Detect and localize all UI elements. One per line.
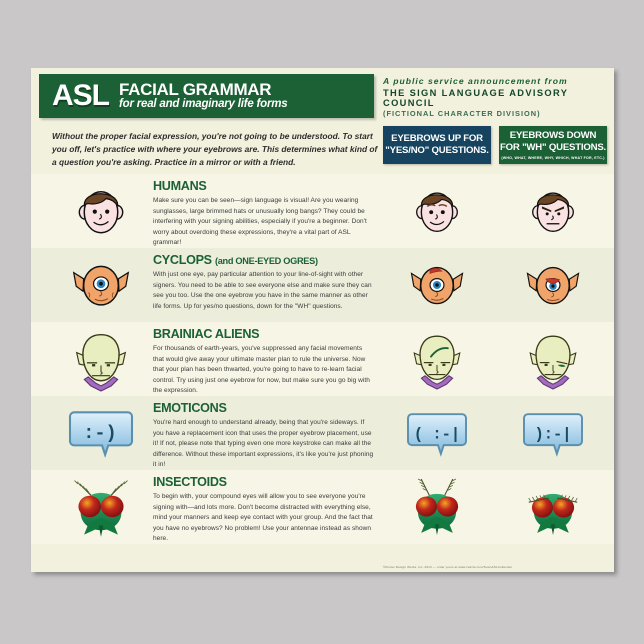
column-header-label: EYEBROWS DOWN FOR "WH" QUESTIONS. [499,130,607,153]
thumbnail-insectoid [53,474,149,540]
poster-title: FACIAL GRAMMAR [119,81,288,98]
row-emoticons: :-) EMOTICONS You're hard enough to unde… [31,396,614,470]
council-name: THE SIGN LANGUAGE ADVISORY COUNCIL [383,88,607,108]
emoticon-glyph: ):-| [534,425,571,443]
emoticon-glyph: :-) [83,423,116,444]
art-cyclops-eyebrows-up [382,248,492,322]
alien-face-neutral-icon [69,327,133,391]
column-header-note: (WHO, WHAT, WHERE, WHY, WHICH, WHAT FOR,… [501,156,604,160]
art-emoticon-eyebrows-down: ):-| [498,396,608,470]
title-banner: ASL FACIAL GRAMMAR for real and imaginar… [39,74,374,118]
column-header-eyebrows-down: EYEBROWS DOWN FOR "WH" QUESTIONS. (WHO, … [499,126,607,164]
art-emoticon-eyebrows-up: ( :-| [382,396,492,470]
alien-face-eyebrows-down-icon [523,329,583,389]
human-face-eyebrows-down-icon [524,182,582,240]
row-body-insectoid: To begin with, your compound eyes will a… [153,492,375,545]
poster-header: ASL FACIAL GRAMMAR for real and imaginar… [31,68,614,120]
row-body-humans: Make sure you can be seen—sign language … [153,196,375,249]
emoticon-bubble-eyebrows-up-icon: ( :-| [408,410,466,457]
psa-line: A public service announcement from [383,76,607,86]
thumbnail-humans [53,178,149,244]
credit-line: ©Poster Design Works, Inc. 2013 — order … [383,565,613,569]
council-division: (FICTIONAL CHARACTER DIVISION) [383,109,607,118]
row-insectoids: INSECTOIDS To begin with, your compound … [31,470,614,544]
copy-emoticon: EMOTICONS You're hard enough to understa… [153,401,375,471]
intro-text: Without the proper facial expression, yo… [52,130,382,168]
art-insectoid-eyebrows-down [498,470,608,544]
emoticon-bubble-neutral-icon: :-) [70,408,132,458]
row-body-emoticon: You're hard enough to understand already… [153,418,375,471]
row-title-humans: HUMANS [153,179,375,193]
art-insectoid-eyebrows-up [382,470,492,544]
row-brainiac-aliens: BRAINIAC ALIENS For thousands of earth-y… [31,322,614,396]
emoticon-bubble-eyebrows-down-icon: ):-| [524,410,582,457]
row-body-alien: For thousands of earth-years, you've sup… [153,344,375,397]
row-title-alien: BRAINIAC ALIENS [153,327,375,341]
title-block: FACIAL GRAMMAR for real and imaginary li… [119,81,288,110]
row-title-cyclops: CYCLOPS (and ONE-EYED OGRES) [153,253,375,267]
brand-asl: ASL [52,81,109,111]
emoticon-glyph: ( :-| [414,425,460,443]
thumbnail-emoticon: :-) [53,400,149,466]
copy-insectoid: INSECTOIDS To begin with, your compound … [153,475,375,545]
column-header-label: EYEBROWS UP FOR "YES/NO" QUESTIONS. [383,133,491,156]
poster: ASL FACIAL GRAMMAR for real and imaginar… [31,68,614,572]
art-alien-eyebrows-up [382,322,492,396]
row-cyclops: CYCLOPS (and ONE-EYED OGRES) With just o… [31,248,614,322]
human-face-neutral-icon [70,180,132,242]
cyclops-face-neutral-icon [70,254,132,316]
insectoid-antennae-up-icon [405,478,469,536]
thumbnail-cyclops [53,252,149,318]
copy-alien: BRAINIAC ALIENS For thousands of earth-y… [153,327,375,397]
art-humans-eyebrows-down [498,174,608,248]
psa-block: A public service announcement from THE S… [383,76,607,118]
row-title-emoticon: EMOTICONS [153,401,375,415]
alien-face-eyebrows-up-icon [407,329,467,389]
copy-humans: HUMANS Make sure you can be seen—sign la… [153,179,375,249]
thumbnail-alien [53,326,149,392]
poster-subtitle: for real and imaginary life forms [119,99,288,111]
insectoid-face-neutral-icon [67,476,135,538]
row-humans: HUMANS Make sure you can be seen—sign la… [31,174,614,248]
insectoid-antennae-down-icon [521,478,585,536]
column-header-eyebrows-up: EYEBROWS UP FOR "YES/NO" QUESTIONS. [383,126,491,164]
art-humans-eyebrows-up [382,174,492,248]
human-face-eyebrows-up-icon [408,182,466,240]
row-body-cyclops: With just one eye, pay particular attent… [153,270,375,312]
copy-cyclops: CYCLOPS (and ONE-EYED OGRES) With just o… [153,253,375,312]
art-alien-eyebrows-down [498,322,608,396]
art-cyclops-eyebrows-down [498,248,608,322]
row-title-insectoid: INSECTOIDS [153,475,375,489]
cyclops-face-eyebrows-down-icon [524,256,582,314]
cyclops-face-eyebrows-up-icon [408,256,466,314]
